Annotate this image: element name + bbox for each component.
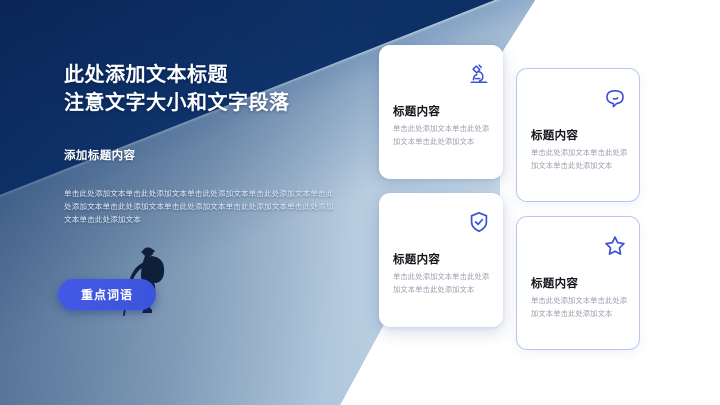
hero-body-text: 单击此处添加文本单击此处添加文本单击此处添加文本单击此处添加文本单击此处添加文本… (64, 187, 336, 226)
slide-canvas: 此处添加文本标题 注意文字大小和文字段落 添加标题内容 单击此处添加文本单击此处… (0, 0, 720, 405)
hero-text-block: 此处添加文本标题 注意文字大小和文字段落 添加标题内容 单击此处添加文本单击此处… (64, 62, 364, 226)
feature-card-4[interactable]: 标题内容 单击此处添加文本单击此处添加文本单击此处添加文本 (516, 216, 640, 350)
hero-subtitle: 添加标题内容 (64, 147, 364, 163)
feature-card-3[interactable]: 标题内容 单击此处添加文本单击此处添加文本单击此处添加文本 (379, 193, 503, 327)
feature-card-4-title: 标题内容 (531, 275, 578, 291)
feature-card-1-body: 单击此处添加文本单击此处添加文本单击此处添加文本 (393, 123, 491, 149)
hero-title-line-2: 注意文字大小和文字段落 (64, 90, 364, 118)
feature-card-1-title: 标题内容 (393, 103, 440, 119)
shield-check-icon (467, 210, 491, 234)
star-icon (603, 234, 627, 258)
hero-title-line-1: 此处添加文本标题 (64, 62, 364, 90)
feature-card-2-title: 标题内容 (531, 127, 578, 143)
feature-card-2-body: 单击此处添加文本单击此处添加文本单击此处添加文本 (531, 147, 629, 173)
microscope-icon (467, 62, 491, 86)
feature-card-2[interactable]: 标题内容 单击此处添加文本单击此处添加文本单击此处添加文本 (516, 68, 640, 202)
feature-card-3-body: 单击此处添加文本单击此处添加文本单击此处添加文本 (393, 271, 491, 297)
keyword-cta-button[interactable]: 重点词语 (58, 279, 156, 310)
speech-bubble-icon (603, 86, 627, 110)
feature-card-3-title: 标题内容 (393, 251, 440, 267)
feature-card-1[interactable]: 标题内容 单击此处添加文本单击此处添加文本单击此处添加文本 (379, 45, 503, 179)
keyword-cta-label: 重点词语 (81, 286, 133, 303)
feature-card-4-body: 单击此处添加文本单击此处添加文本单击此处添加文本 (531, 295, 629, 321)
